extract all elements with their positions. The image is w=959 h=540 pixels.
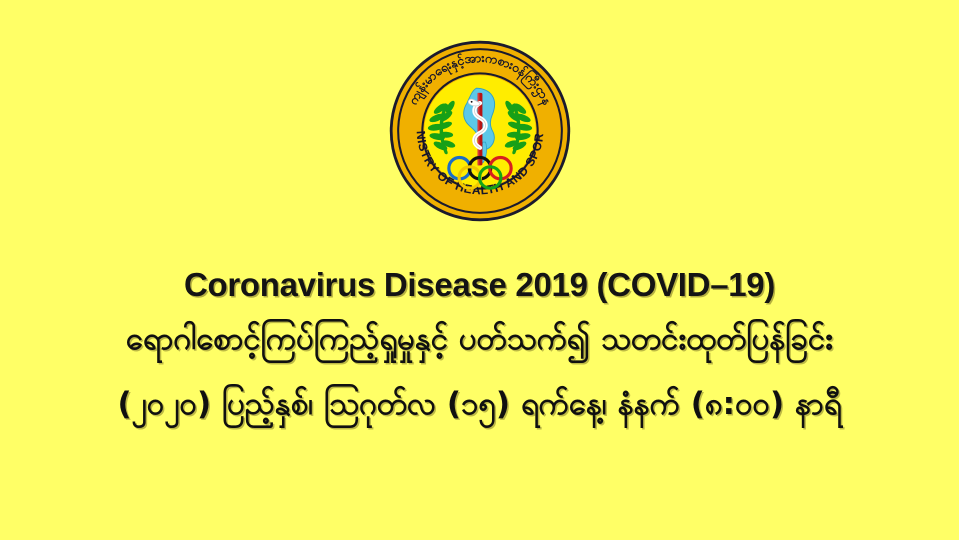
date-time-burmese: (၂၀၂၀) ပြည့်နှစ်၊ သြဂုတ်လ (၁၅) ရက်နေ့၊ န…: [0, 370, 959, 438]
ministry-seal-svg: ကျန်းမာရေးနှင့်အားကစားဝန်ကြီးဌာန MINISTR…: [387, 38, 573, 224]
page-title-english: Coronavirus Disease 2019 (COVID–19): [0, 262, 959, 308]
press-release-slide: ကျန်းမာရေးနှင့်အားကစားဝန်ကြီးဌာန MINISTR…: [0, 0, 959, 540]
subtitle-burmese: ရောဂါစောင့်ကြပ်ကြည့်ရှုမှုနှင့် ပတ်သက်၍ …: [0, 308, 959, 370]
title-text-block: Coronavirus Disease 2019 (COVID–19) ရောဂ…: [0, 262, 959, 438]
ministry-seal-logo: ကျန်းမာရေးနှင့်အားကစားဝန်ကြီးဌာန MINISTR…: [387, 38, 573, 224]
